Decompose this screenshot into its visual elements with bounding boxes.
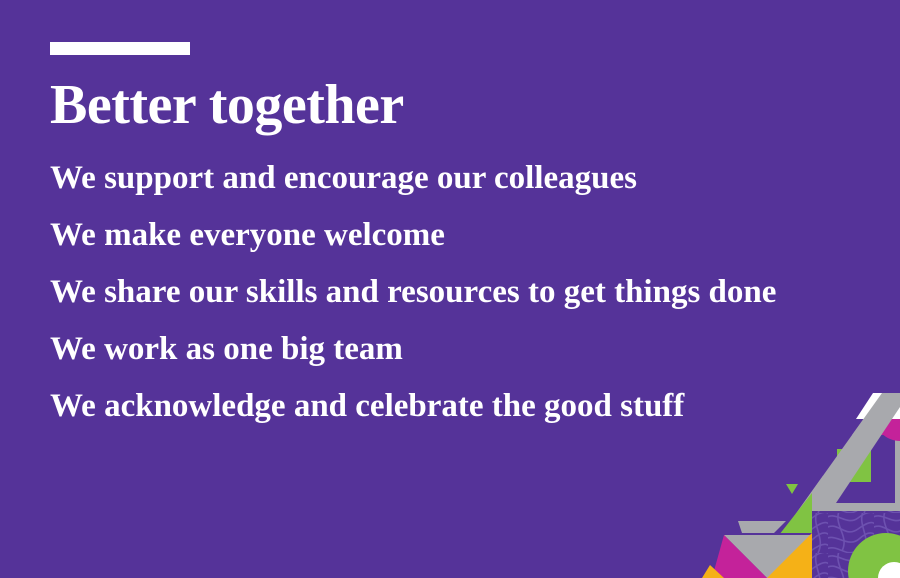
- content-block: Better together We support and encourage…: [50, 42, 880, 426]
- page-title: Better together: [50, 77, 880, 133]
- poster-canvas: Better together We support and encourage…: [0, 0, 900, 578]
- yellow-small-triangle: [702, 565, 724, 578]
- grey-triangle-upper: [738, 521, 786, 557]
- green-flake: [786, 484, 798, 494]
- statement-item: We acknowledge and celebrate the good st…: [50, 387, 880, 426]
- wavy-line-field-top: [812, 511, 900, 533]
- magenta-triangle: [712, 535, 767, 578]
- green-triangle: [768, 493, 812, 549]
- statement-item: We work as one big team: [50, 330, 880, 369]
- green-square: [837, 449, 871, 482]
- lower-purple-block: [720, 533, 812, 578]
- statement-item: We support and encourage our colleagues: [50, 159, 880, 198]
- accent-rule: [50, 42, 190, 55]
- grey-strip: [812, 503, 900, 511]
- grey-triangle-lower: [724, 535, 812, 578]
- purple-panel: [823, 435, 895, 503]
- yellow-triangle: [767, 533, 812, 578]
- statements-list: We support and encourage our colleagues …: [50, 159, 880, 426]
- green-ring-hole: [878, 562, 900, 578]
- statement-item: We make everyone welcome: [50, 216, 880, 255]
- purple-notch: [700, 553, 716, 578]
- wavy-line-field: [812, 511, 900, 578]
- green-ring: [848, 533, 900, 578]
- statement-item: We share our skills and resources to get…: [50, 273, 880, 312]
